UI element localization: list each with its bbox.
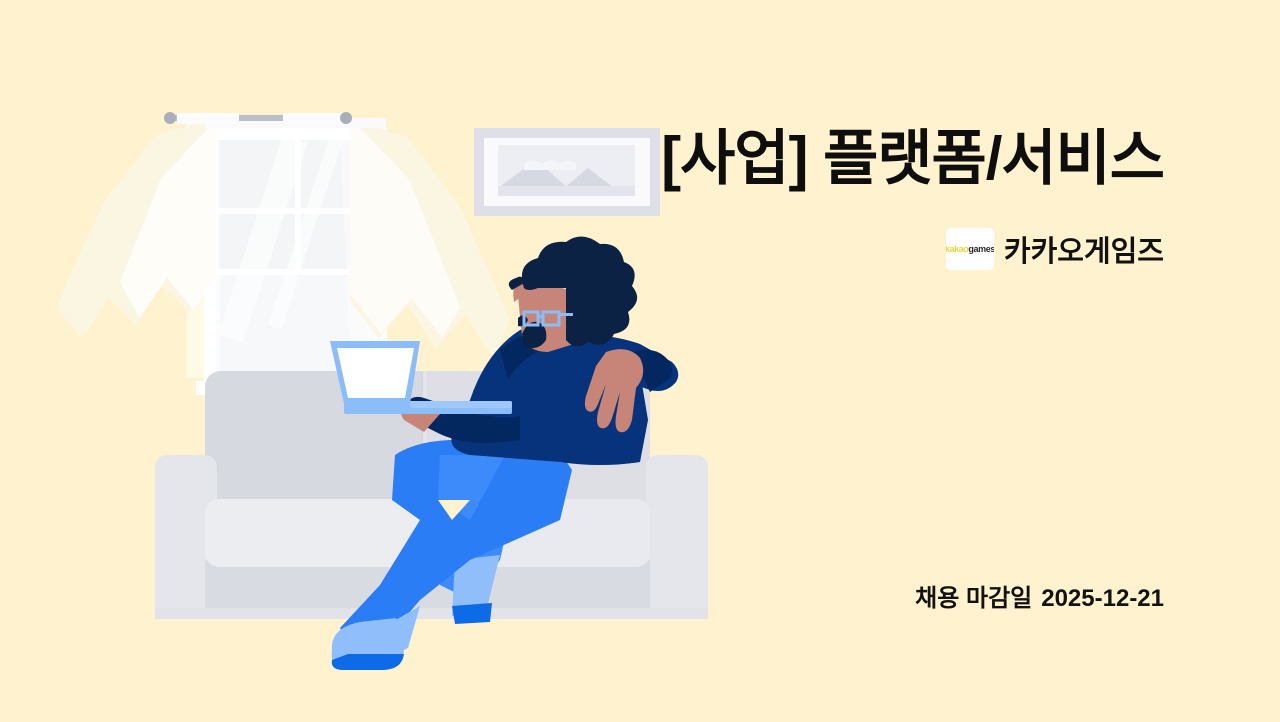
logo-text-games: games [968,245,994,254]
title-block: [사업] 플랫폼/서비스 [464,129,1164,189]
deadline-row: 채용 마감일2025-12-21 [915,578,1164,613]
job-posting-card: [사업] 플랫폼/서비스 kakaogames 카카오게임즈 채용 마감일202… [0,0,1280,722]
illustration-man-on-sofa [0,0,740,722]
deadline-label: 채용 마감일 [915,585,1032,612]
company-name: 카카오게임즈 [1004,228,1164,270]
deadline-date: 2025-12-21 [1041,585,1164,612]
kakaogames-logo: kakaogames [946,228,994,270]
person-figure [0,0,740,722]
logo-text-kakao: kakao [946,245,969,254]
company-row: kakaogames 카카오게임즈 [946,228,1164,270]
page-title: [사업] 플랫폼/서비스 [464,129,1164,189]
person-head [509,236,637,352]
